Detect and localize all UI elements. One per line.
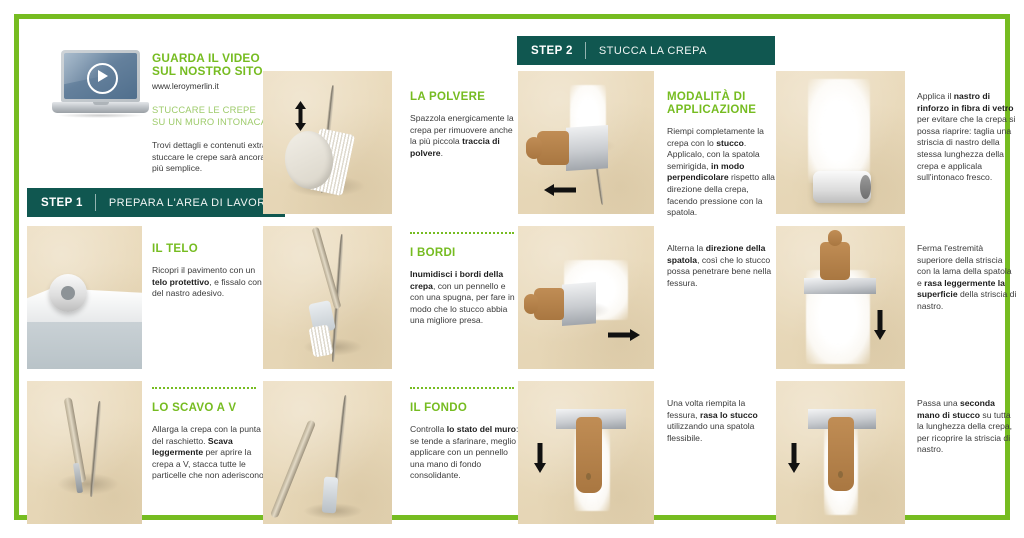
block-rasa-lo-stucco: Una volta riempita la fessura, rasa lo s… [667,398,777,444]
laptop-play-icon [52,50,149,122]
poster-frame: GUARDA IL VIDEO SUL NOSTRO SITO www.lero… [14,14,1010,520]
right-arrow-icon [608,328,640,340]
step-1-number: STEP 1 [27,197,95,209]
step-2-title: STUCCA LA CREPA [586,45,707,57]
block-body: Ferma l'estremità superiore della strisc… [917,243,1017,313]
promo-body: Trovi dettagli e contenuti extra: stucca… [152,140,274,175]
down-arrow-icon [874,310,886,340]
play-button-icon[interactable] [87,63,118,94]
fiberglass-tape-roll-image [776,71,905,214]
step-2-banner: STEP 2 STUCCA LA CREPA [517,36,775,65]
block-i-bordi: I BORDI Inumidisci i bordi della crepa, … [410,247,520,327]
block-seconda-mano: Passa una seconda mano di stucco su tutt… [917,398,1017,456]
down-arrow-icon [534,443,546,473]
block-body: Controlla lo stato del muro: se tende a … [410,424,520,482]
primer-brush-image [263,381,392,524]
block-heading: LO SCAVO A V [152,402,267,415]
brush-wetting-crack-image [263,226,392,369]
promo-heading-line2: SUL NOSTRO SITO [152,65,280,78]
block-body: Applica il nastro di rinforzo in fibra d… [917,91,1017,184]
block-body: Riempi completamente la crepa con lo stu… [667,126,777,219]
block-il-fondo: IL FONDO Controlla lo stato del muro: se… [410,402,520,482]
promo-url[interactable]: www.leroymerlin.it [152,81,280,91]
block-direzione-spatola: Alterna la direzione della spatola, così… [667,243,777,289]
laptop-screen [61,50,140,102]
block-la-polvere: LA POLVERE Spazzola energicamente la cre… [410,91,520,159]
laptop-base [52,102,149,113]
block-modalita-di-applicazione: MODALITÀ DI APPLICAZIONE Riempi completa… [667,91,777,219]
scraper-v-cut-image [27,381,142,524]
block-body: Ricopri il pavimento con un telo protett… [152,265,264,300]
block-body: Spazzola energicamente la crepa per rimu… [410,113,520,159]
block-body: Passa una seconda mano di stucco su tutt… [917,398,1017,456]
flexible-spatula-image [518,381,654,524]
step-2-number: STEP 2 [517,45,585,57]
promo-header: GUARDA IL VIDEO SUL NOSTRO SITO www.lero… [152,52,280,175]
dotted-divider [410,232,514,236]
block-nastro-di-rinforzo: Applica il nastro di rinforzo in fibra d… [917,91,1017,184]
left-arrow-icon [544,183,576,195]
up-down-arrow-icon [295,101,306,131]
block-body: Una volta riempita la fessura, rasa lo s… [667,398,777,444]
protective-sheet-image [27,226,142,369]
spatula-alternating-image [518,226,654,369]
promo-subtitle-line2: SU UN MURO INTONACATO [152,116,280,127]
dotted-divider [152,387,256,391]
block-heading: IL TELO [152,243,264,256]
brush-on-crack-image [263,71,392,214]
block-body: Allarga la crepa con la punta del raschi… [152,424,267,482]
block-ferma-estremita: Ferma l'estremità superiore della strisc… [917,243,1017,313]
step-1-title: PREPARA L'AREA DI LAVORO [96,197,275,209]
block-il-telo: IL TELO Ricopri il pavimento con un telo… [152,243,264,300]
block-body: Alterna la direzione della spatola, così… [667,243,777,289]
second-coat-spatula-image [776,381,905,524]
spatula-smoothing-tape-image [776,226,905,369]
dotted-divider [410,387,514,391]
block-lo-scavo-a-v: LO SCAVO A V Allarga la crepa con la pun… [152,402,267,482]
block-heading: I BORDI [410,247,520,260]
block-heading: IL FONDO [410,402,520,415]
down-arrow-icon [788,443,800,473]
block-body: Inumidisci i bordi della crepa, con un p… [410,269,520,327]
block-heading: LA POLVERE [410,91,520,104]
step-1-banner: STEP 1 PREPARA L'AREA DI LAVORO [27,188,285,217]
spatula-filling-crack-image [518,71,654,214]
block-heading: MODALITÀ DI APPLICAZIONE [667,91,777,117]
promo-subtitle-line1: STUCCARE LE CREPE [152,104,280,115]
